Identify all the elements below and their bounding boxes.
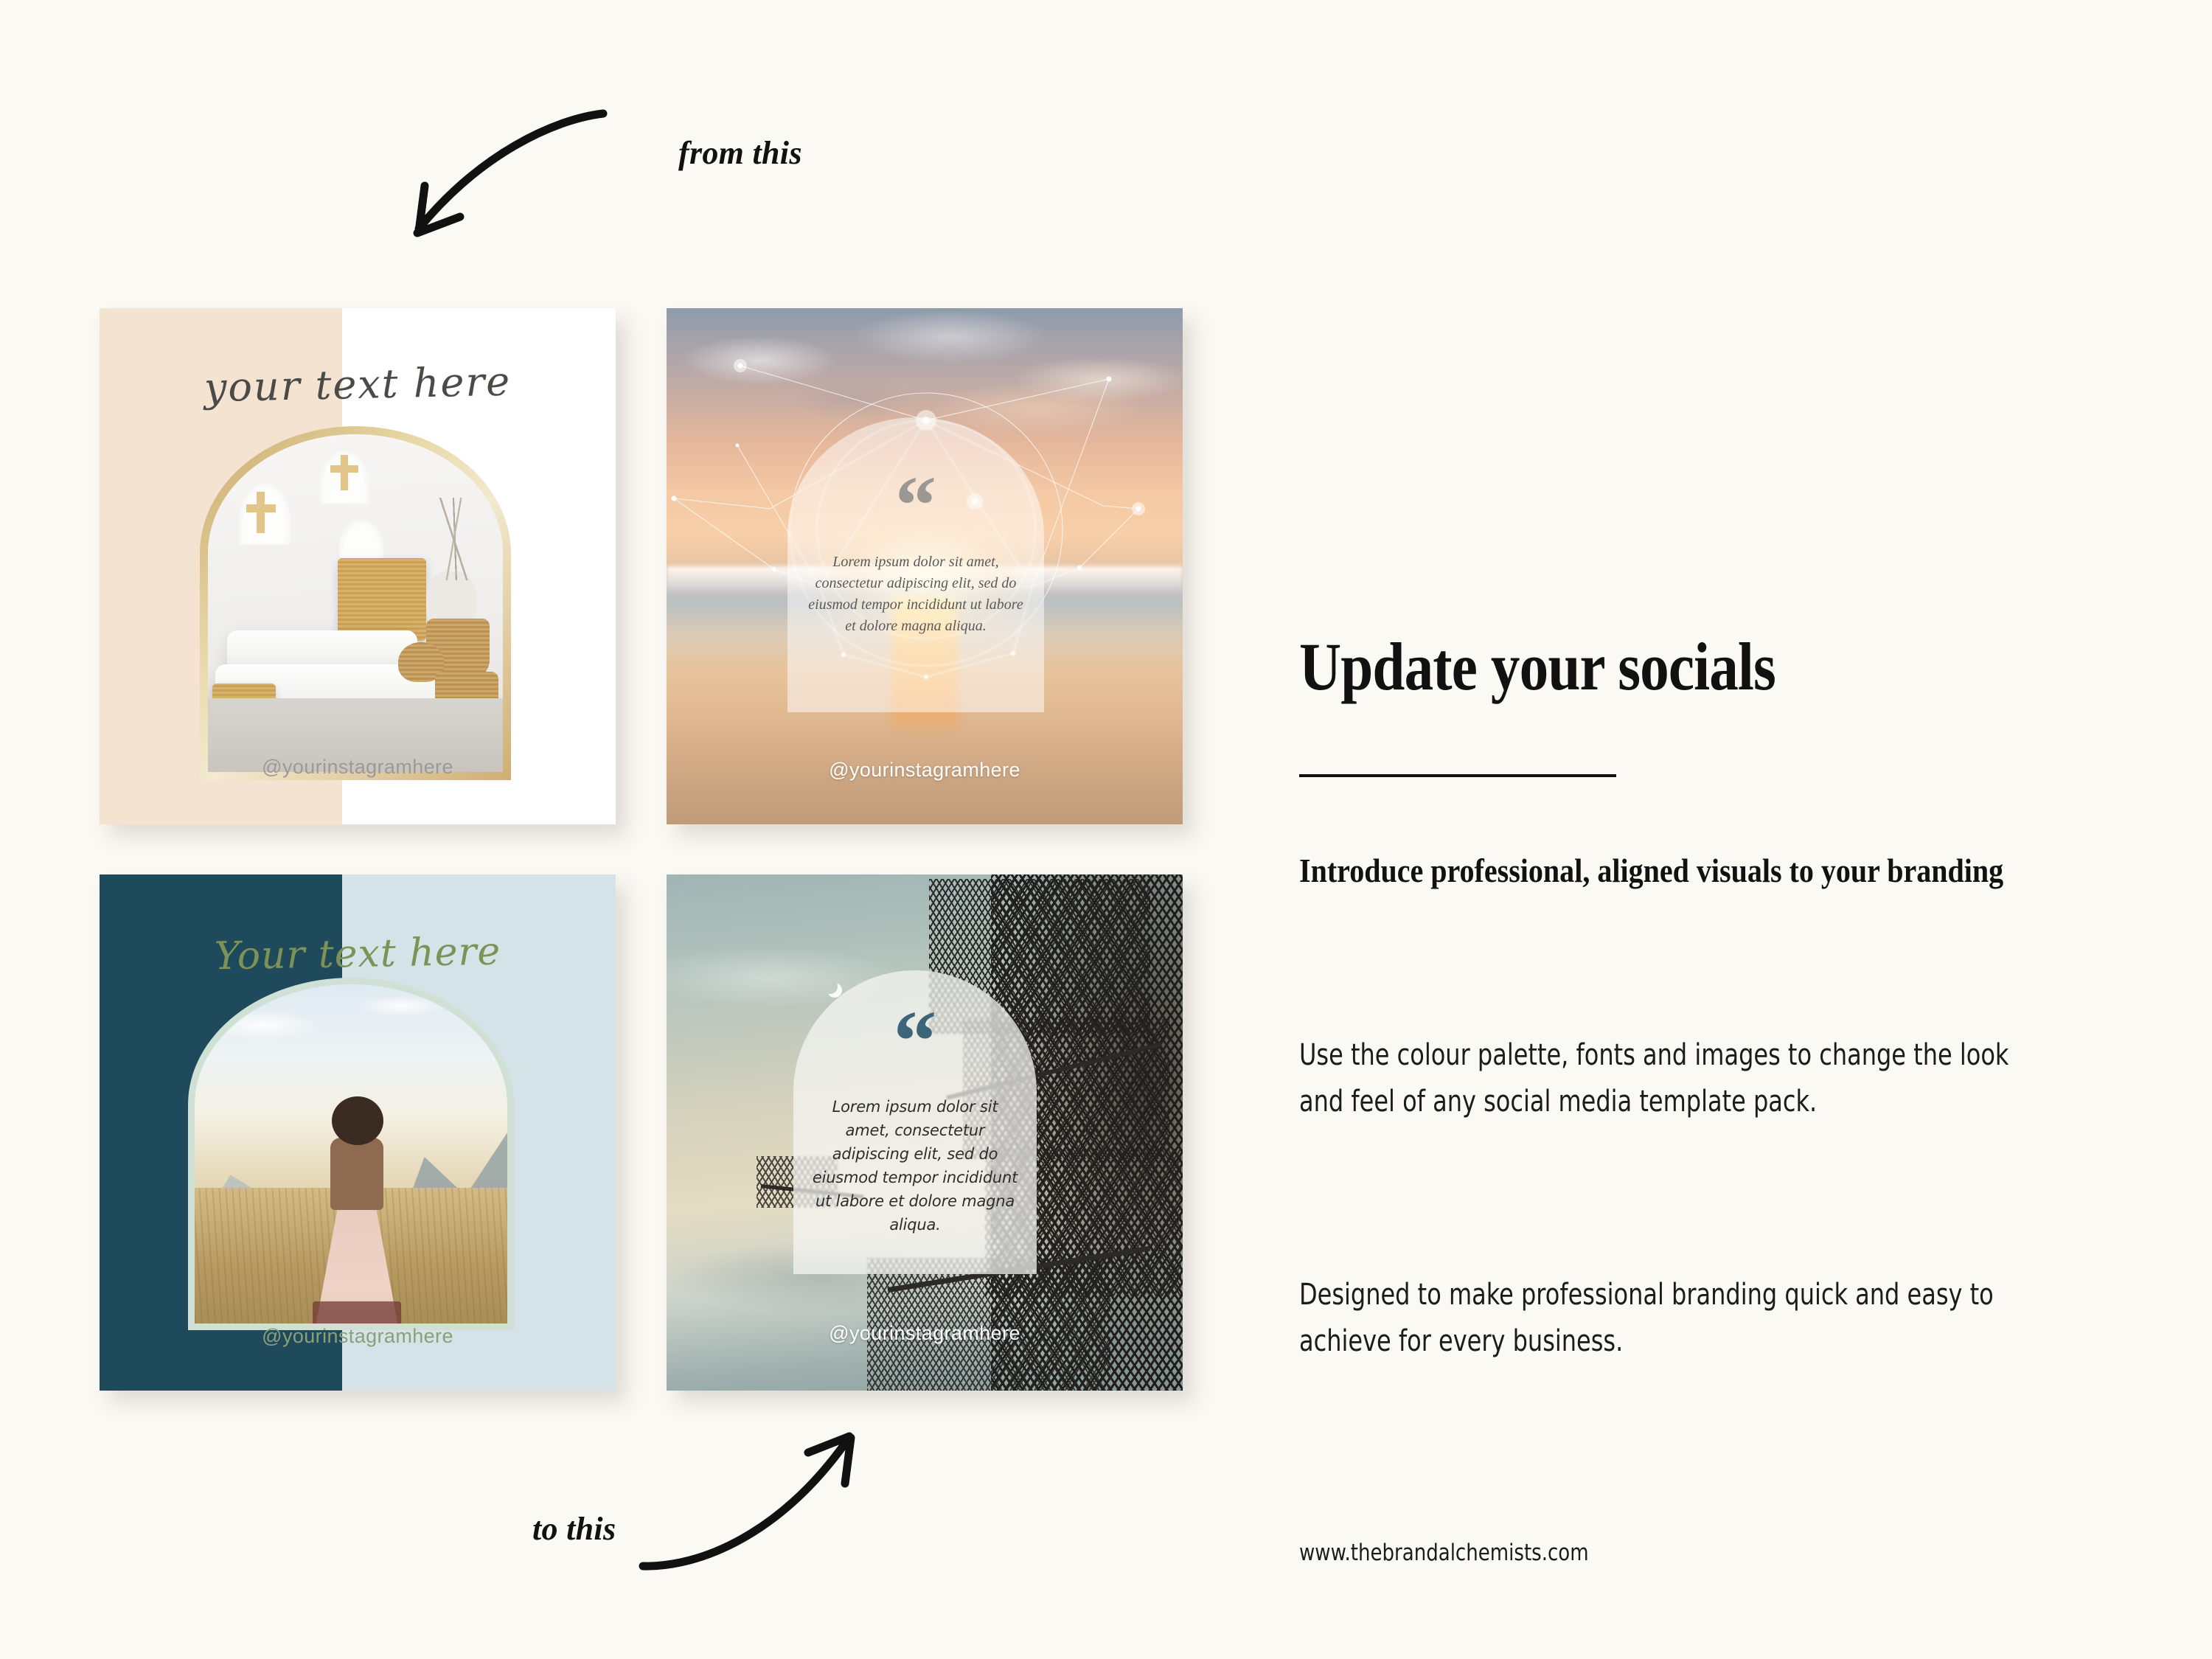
title-divider bbox=[1299, 774, 1616, 777]
page-title: Update your socials bbox=[1299, 633, 1775, 700]
subheading: Introduce professional, aligned visuals … bbox=[1299, 848, 2056, 894]
website-url[interactable]: www.thebrandalchemists.com bbox=[1299, 1540, 1589, 1566]
card-4-quote-panel: “ Lorem ipsum dolor sit amet, consectetu… bbox=[793, 970, 1037, 1274]
card-1-instagram-handle: @yourinstagramhere bbox=[100, 756, 616, 779]
card-3-arch-photo-frame bbox=[188, 978, 514, 1330]
card-1-arch-photo-frame bbox=[200, 426, 511, 780]
card-2-quote-panel: “ Lorem ipsum dolor sit amet, consectetu… bbox=[787, 417, 1044, 712]
body-paragraph-2: Designed to make professional branding q… bbox=[1299, 1272, 2054, 1365]
social-template-card-1[interactable]: your text here @yourinstagramhere bbox=[100, 308, 616, 824]
card-4-instagram-handle: @yourinstagramhere bbox=[667, 1322, 1183, 1345]
card-2-quote-mark-icon: “ bbox=[787, 475, 1044, 537]
from-this-label: from this bbox=[678, 134, 802, 172]
card-2-instagram-handle: @yourinstagramhere bbox=[667, 759, 1183, 782]
card-4-quote-text: Lorem ipsum dolor sit amet, consectetur … bbox=[810, 1096, 1020, 1237]
social-template-card-2[interactable]: “ Lorem ipsum dolor sit amet, consectetu… bbox=[667, 308, 1183, 824]
card-3-instagram-handle: @yourinstagramhere bbox=[100, 1325, 616, 1348]
card-1-photo-mediterranean-interior bbox=[208, 434, 503, 772]
card-4-quote-mark-icon: “ bbox=[793, 1009, 1037, 1074]
social-template-card-3[interactable]: Your text here @yourinstagramhere bbox=[100, 874, 616, 1391]
curved-arrow-up-right-icon bbox=[634, 1423, 885, 1578]
card-2-quote-text: Lorem ipsum dolor sit amet, consectetur … bbox=[804, 552, 1028, 637]
card-3-photo-mountain-meadow bbox=[195, 984, 507, 1324]
social-template-card-4[interactable]: “ Lorem ipsum dolor sit amet, consectetu… bbox=[667, 874, 1183, 1391]
curved-arrow-down-left-icon bbox=[369, 103, 612, 265]
card-3-script-text: Your text here bbox=[100, 928, 616, 981]
body-paragraph-1: Use the colour palette, fonts and images… bbox=[1299, 1032, 2054, 1125]
to-this-label: to this bbox=[532, 1510, 616, 1548]
